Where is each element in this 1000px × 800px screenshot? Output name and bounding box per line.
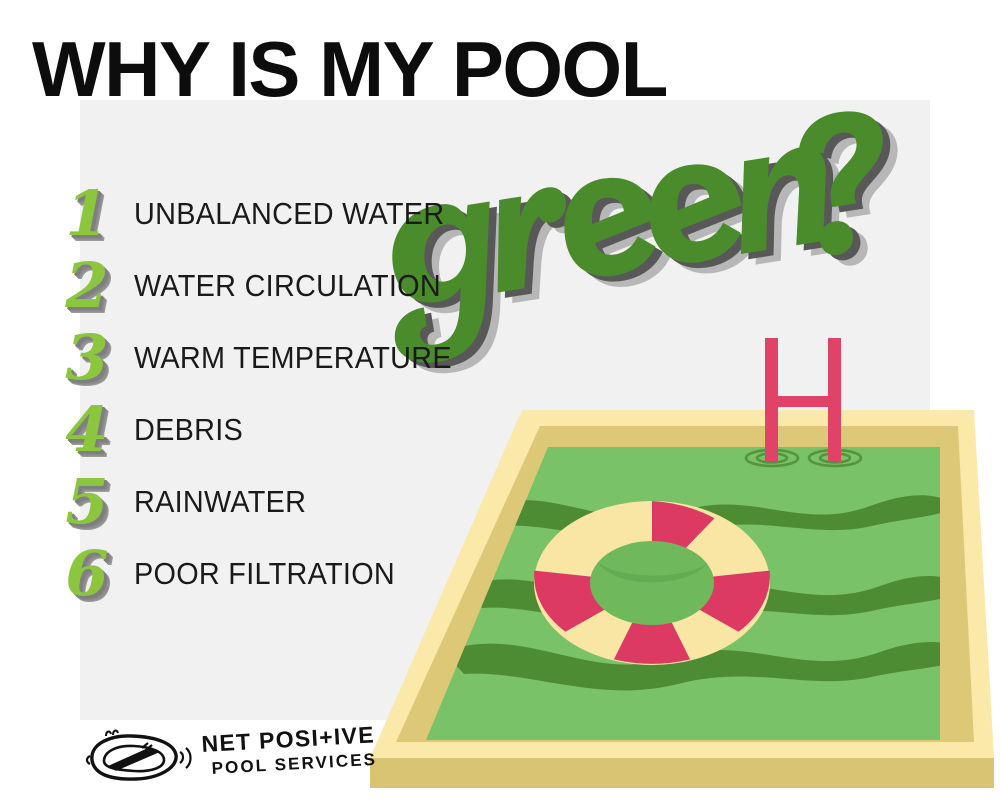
life-ring-hole: [590, 541, 714, 625]
life-ring: [534, 501, 770, 665]
page-title: WHY IS MY POOL: [32, 30, 667, 108]
deck-front-side: [370, 758, 994, 788]
list-item-label: DEBRIS: [134, 394, 243, 466]
list-item-number: 5: [58, 466, 116, 538]
list-item-number: 3: [58, 322, 116, 394]
list-item: 1 UNBALANCED WATER: [58, 178, 478, 250]
list-item-label: UNBALANCED WATER: [134, 178, 444, 250]
brand-logo: NET POSI+IVE POOL SERVICES: [80, 726, 360, 788]
list-item-number: 4: [58, 394, 116, 466]
list-item-number: 2: [58, 250, 116, 322]
list-item-label: WATER CIRCULATION: [134, 250, 441, 322]
list-item-label: POOR FILTRATION: [134, 538, 395, 610]
pool-illustration: [360, 340, 1000, 800]
list-item: 2 WATER CIRCULATION: [58, 250, 478, 322]
pool-net-icon: [87, 731, 191, 780]
list-item-number: 6: [58, 538, 116, 610]
list-item-label: RAINWATER: [134, 466, 306, 538]
list-item-number: 1: [58, 178, 116, 250]
poster-canvas: WHY IS MY POOL: [0, 0, 1000, 800]
